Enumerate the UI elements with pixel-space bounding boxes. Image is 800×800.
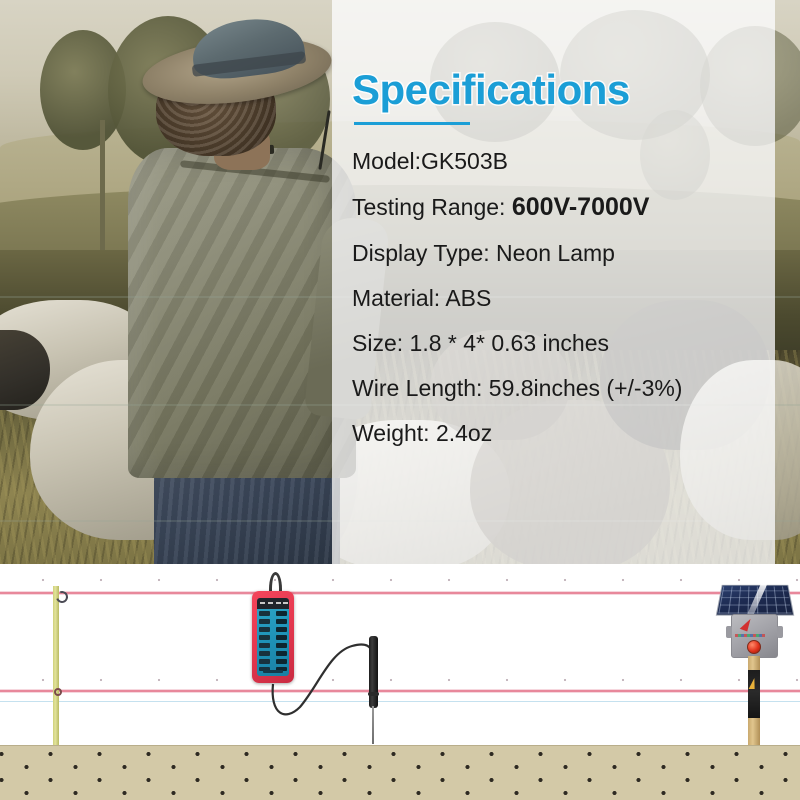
spec-label: Testing Range:: [352, 194, 512, 220]
farmer-figure: [118, 18, 358, 564]
tree-trunk: [100, 120, 105, 260]
fence-tester[interactable]: [252, 591, 294, 683]
spec-item-size: Size: 1.8 * 4* 0.63 inches: [352, 332, 772, 355]
spec-item-weight: Weight: 2.4oz: [352, 422, 772, 445]
spec-value: 600V-7000V: [512, 193, 650, 221]
spec-item-wire-length: Wire Length: 59.8inches (+/-3%): [352, 377, 772, 400]
fence-tester-usage-diagram: [0, 564, 800, 800]
tester-brand-strip: [263, 670, 283, 673]
neon-lamp-indicators: [259, 611, 287, 675]
spec-item-material: Material: ABS: [352, 287, 772, 310]
soil: [0, 745, 800, 800]
spec-label: Model:GK503B: [352, 148, 508, 174]
product-spec-page: Specifications Model:GK503B Testing Rang…: [0, 0, 800, 800]
tester-housing: [252, 591, 294, 683]
page-title: Specifications: [352, 66, 630, 114]
status-indicator-light: [747, 640, 761, 654]
energizer-bracket: [726, 626, 732, 638]
tester-faceplate: [257, 598, 289, 676]
spec-list: Model:GK503B Testing Range: 600V-7000V D…: [352, 150, 772, 467]
spec-label: Size: 1.8 * 4* 0.63 inches: [352, 330, 609, 356]
spec-label: Weight: 2.4oz: [352, 420, 492, 446]
spec-item-model: Model:GK503B: [352, 150, 772, 173]
spec-item-display-type: Display Type: Neon Lamp: [352, 242, 772, 265]
hero-photo: Specifications Model:GK503B Testing Rang…: [0, 0, 800, 564]
spec-label: Wire Length: 59.8inches (+/-3%): [352, 375, 682, 401]
energizer-bracket: [777, 626, 783, 638]
ground-probe[interactable]: [369, 636, 378, 708]
probe-ring: [368, 692, 379, 696]
spec-label: Display Type: Neon Lamp: [352, 240, 615, 266]
energizer-brand-mark: [735, 634, 765, 637]
spec-item-testing-range: Testing Range: 600V-7000V: [352, 195, 772, 220]
spec-label: Material: ABS: [352, 285, 491, 311]
probe-tip: [372, 706, 374, 744]
title-underline: [354, 122, 470, 125]
tester-header-strip: [257, 598, 289, 609]
specifications-panel: Specifications Model:GK503B Testing Rang…: [332, 0, 775, 564]
